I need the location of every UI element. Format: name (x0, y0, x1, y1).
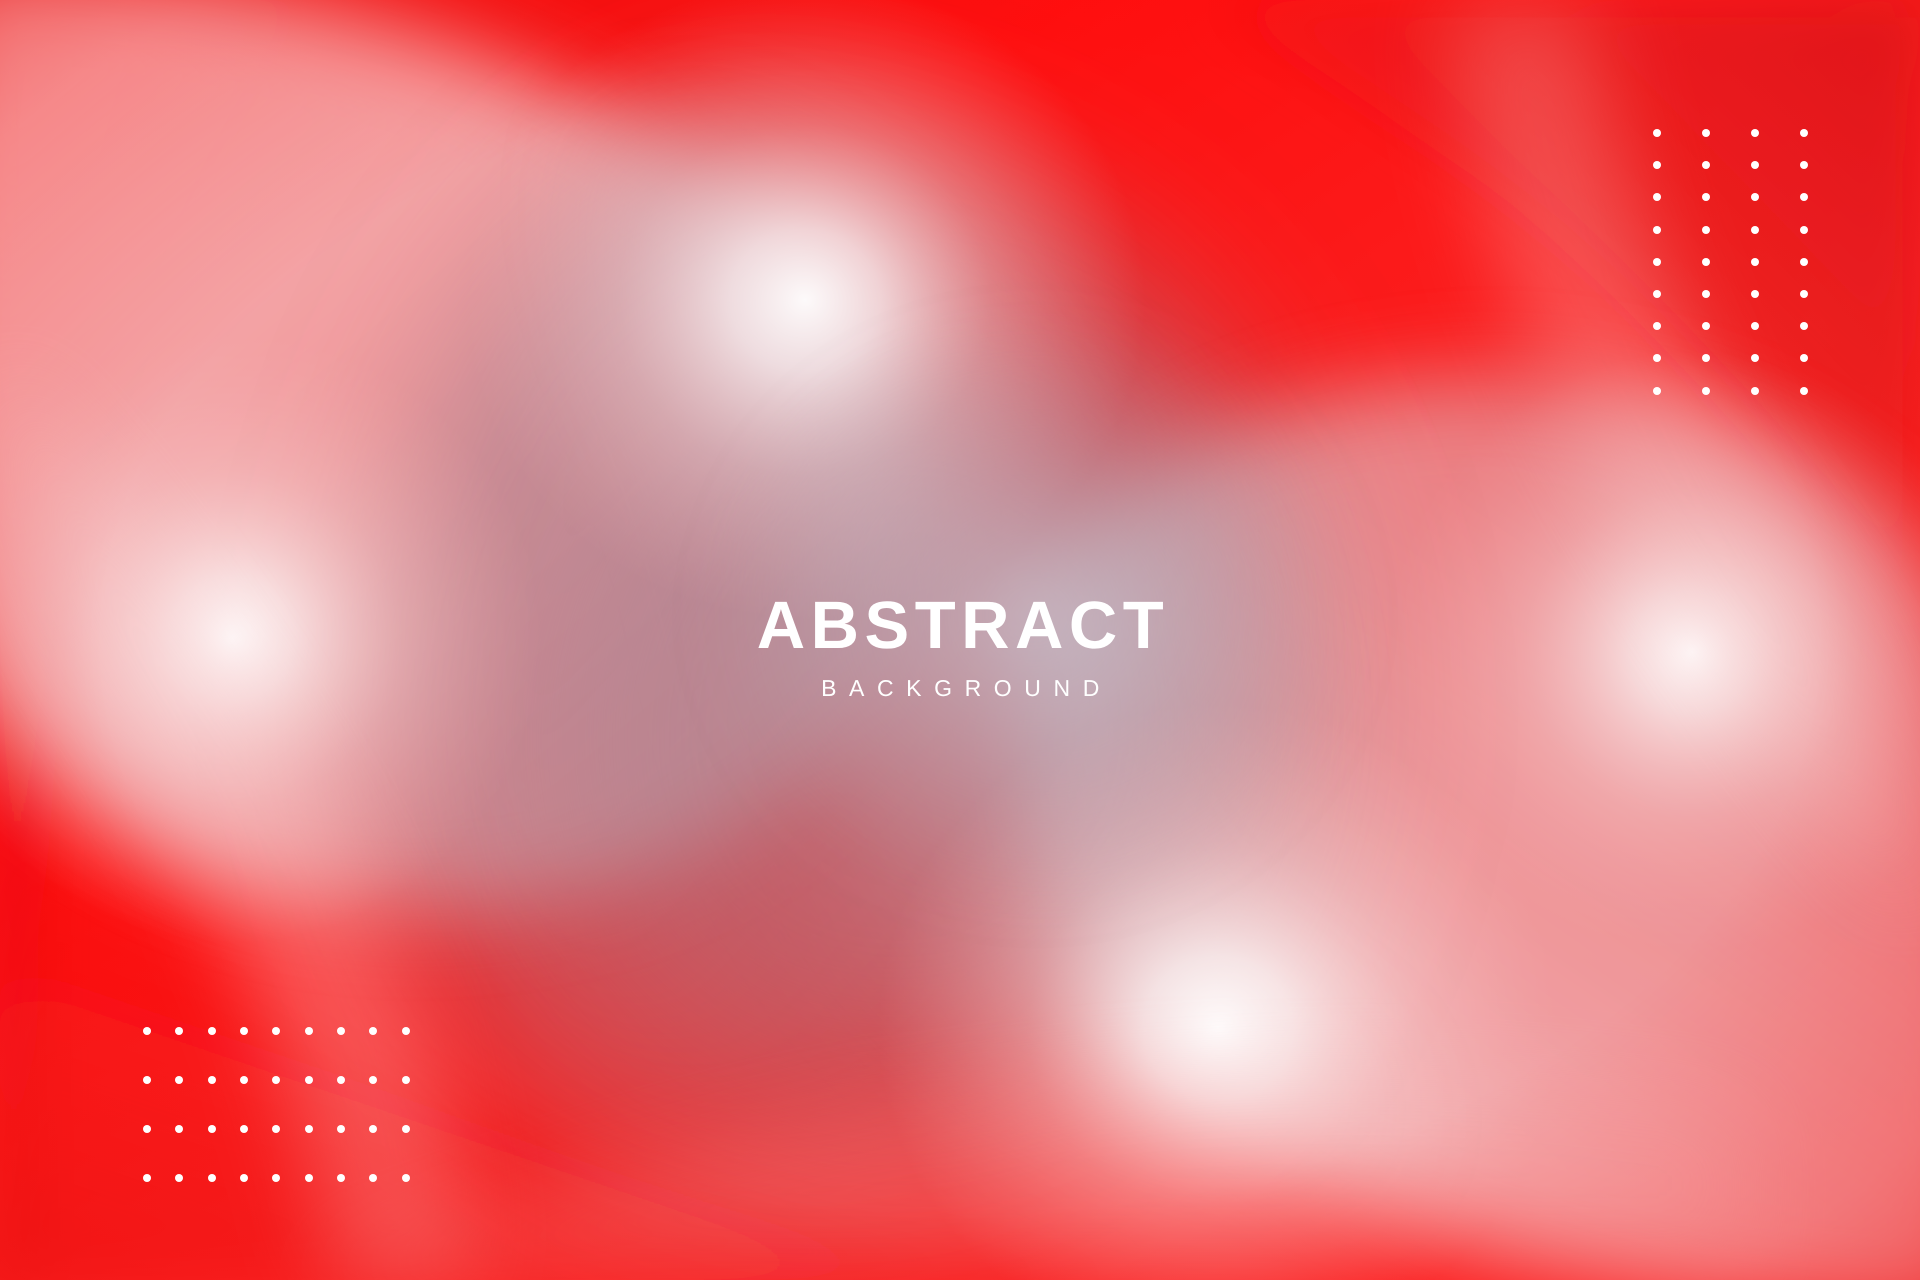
abstract-artwork (0, 0, 1920, 1280)
edge-vignette (0, 0, 1920, 1280)
abstract-background-canvas: ABSTRACT BACKGROUND (0, 0, 1920, 1280)
